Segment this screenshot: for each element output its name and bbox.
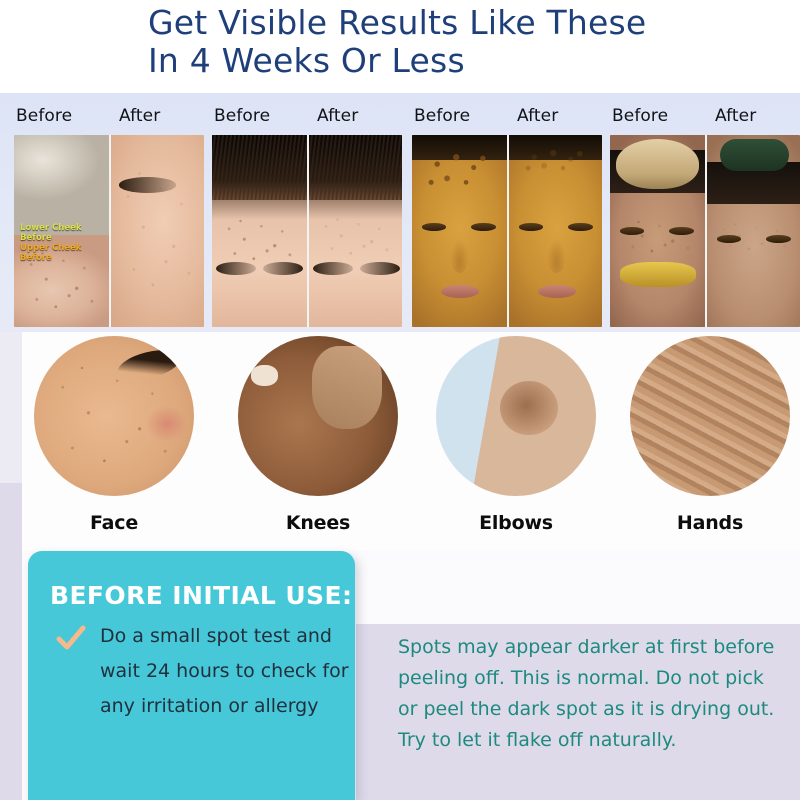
before-after-labels: Before After bbox=[412, 106, 602, 130]
note-card-body: Do a small spot test and wait 24 hours t… bbox=[100, 619, 350, 724]
overlay-caption-lower-cheek: Lower Cheek Before bbox=[20, 223, 82, 243]
before-after-photo bbox=[412, 135, 602, 327]
before-initial-use-card: BEFORE INITIAL USE: Do a small spot test… bbox=[28, 551, 355, 800]
body-part-label: Face bbox=[34, 512, 194, 534]
body-parts-panel: Face Knees Elbows Hands bbox=[22, 332, 800, 551]
hero-section: Get Visible Results Like These In 4 Week… bbox=[0, 0, 800, 93]
note-card-heading: BEFORE INITIAL USE: bbox=[50, 581, 352, 610]
body-part-label: Hands bbox=[630, 512, 790, 534]
page-title: Get Visible Results Like These In 4 Week… bbox=[148, 4, 768, 80]
after-photo bbox=[507, 135, 602, 327]
body-part-knees: Knees bbox=[238, 336, 398, 496]
before-photo bbox=[610, 135, 705, 327]
after-label: After bbox=[317, 106, 358, 126]
promo-page: Get Visible Results Like These In 4 Week… bbox=[0, 0, 800, 800]
check-icon bbox=[56, 624, 86, 654]
after-label: After bbox=[715, 106, 756, 126]
before-after-pair-cheek-closeup: Before After Lower Cheek Before Upper Ch… bbox=[14, 93, 204, 332]
body-part-elbows: Elbows bbox=[436, 336, 596, 496]
before-after-labels: Before After bbox=[14, 106, 204, 130]
face-image bbox=[34, 336, 194, 496]
body-part-label: Elbows bbox=[436, 512, 596, 534]
knees-image bbox=[238, 336, 398, 496]
before-photo bbox=[212, 135, 307, 327]
overlay-caption-upper-cheek: Upper Cheek Before bbox=[20, 243, 81, 263]
before-label: Before bbox=[612, 106, 668, 126]
elbows-image bbox=[436, 336, 596, 496]
body-part-hands: Hands bbox=[630, 336, 790, 496]
before-photo: Lower Cheek Before Upper Cheek Before bbox=[14, 135, 109, 327]
before-after-pair-forehead-freckles: Before After bbox=[212, 93, 402, 332]
before-photo bbox=[412, 135, 507, 327]
before-after-photo bbox=[610, 135, 800, 327]
left-accent-strip bbox=[0, 483, 22, 800]
before-after-pair-melasma-hat: Before After bbox=[610, 93, 800, 332]
before-label: Before bbox=[16, 106, 72, 126]
before-after-labels: Before After bbox=[610, 106, 800, 130]
before-after-labels: Before After bbox=[212, 106, 402, 130]
before-after-photo: Lower Cheek Before Upper Cheek Before bbox=[14, 135, 204, 327]
body-part-face: Face bbox=[34, 336, 194, 496]
hands-image bbox=[630, 336, 790, 496]
before-after-band: Before After Lower Cheek Before Upper Ch… bbox=[0, 93, 800, 332]
after-label: After bbox=[119, 106, 160, 126]
body-part-label: Knees bbox=[238, 512, 398, 534]
after-label: After bbox=[517, 106, 558, 126]
after-photo bbox=[109, 135, 204, 327]
before-after-photo bbox=[212, 135, 402, 327]
after-photo bbox=[705, 135, 800, 327]
after-photo bbox=[307, 135, 402, 327]
warning-text: Spots may appear darker at first before … bbox=[398, 632, 788, 756]
before-after-pair-face-hyperpigmentation: Before After bbox=[412, 93, 602, 332]
before-label: Before bbox=[214, 106, 270, 126]
before-label: Before bbox=[414, 106, 470, 126]
